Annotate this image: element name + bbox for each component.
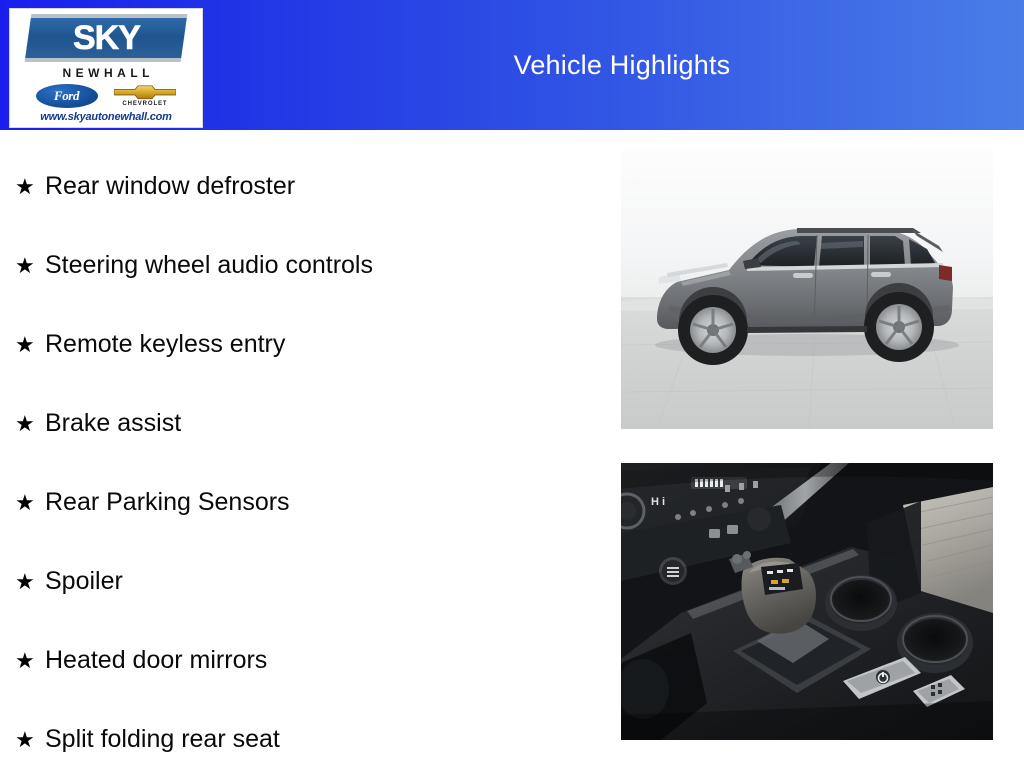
page-title: Vehicle Highlights [220, 0, 1024, 130]
star-bullet-icon: ★ [15, 255, 45, 277]
vehicle-feature-list: ★ Rear window defroster ★ Steering wheel… [0, 147, 600, 768]
sky-banner: SKY [25, 14, 188, 62]
feature-label: Heated door mirrors [45, 646, 267, 675]
sky-brand-text: SKY [73, 21, 140, 55]
chevrolet-logo-text: CHEVROLET [122, 101, 168, 107]
star-bullet-icon: ★ [15, 334, 45, 356]
list-item: ★ Spoiler [0, 542, 600, 621]
vehicle-highlights-slide: Vehicle Highlights SKY NEWHALL Ford [0, 0, 1024, 768]
list-item: ★ Remote keyless entry [0, 305, 600, 384]
star-bullet-icon: ★ [15, 413, 45, 435]
list-item: ★ Steering wheel audio controls [0, 226, 600, 305]
list-item: ★ Brake assist [0, 384, 600, 463]
ford-logo-text: Ford [54, 89, 79, 102]
vehicle-exterior-photo[interactable] [621, 149, 993, 429]
star-bullet-icon: ★ [15, 729, 45, 751]
vehicle-interior-photo[interactable]: H i [621, 463, 993, 740]
dealer-location-text: NEWHALL [58, 67, 154, 79]
list-item: ★ Rear Parking Sensors [0, 463, 600, 542]
chevrolet-bowtie-icon [114, 85, 176, 100]
dealer-logo-inner: SKY NEWHALL Ford [10, 9, 202, 127]
feature-label: Steering wheel audio controls [45, 251, 373, 280]
feature-label: Brake assist [45, 409, 181, 438]
star-bullet-icon: ★ [15, 176, 45, 198]
franchise-badges: Ford CHEVROLET [16, 83, 196, 109]
svg-text:H i: H i [651, 496, 665, 508]
star-bullet-icon: ★ [15, 650, 45, 672]
star-bullet-icon: ★ [15, 571, 45, 593]
interior-photo-graphic: H i [621, 463, 993, 740]
feature-label: Split folding rear seat [45, 725, 280, 754]
dealer-logo[interactable]: SKY NEWHALL Ford [9, 8, 203, 128]
list-item: ★ Rear window defroster [0, 147, 600, 226]
feature-label: Rear window defroster [45, 172, 295, 201]
list-item: ★ Heated door mirrors [0, 621, 600, 700]
dealer-website-text: www.skyautonewhall.com [40, 112, 172, 123]
chevrolet-logo-icon: CHEVROLET [112, 85, 178, 107]
ford-logo-icon: Ford [35, 83, 99, 109]
exterior-photo-graphic [621, 149, 993, 429]
feature-label: Spoiler [45, 567, 123, 596]
feature-label: Remote keyless entry [45, 330, 285, 359]
feature-label: Rear Parking Sensors [45, 488, 290, 517]
star-bullet-icon: ★ [15, 492, 45, 514]
list-item: ★ Split folding rear seat [0, 700, 600, 768]
